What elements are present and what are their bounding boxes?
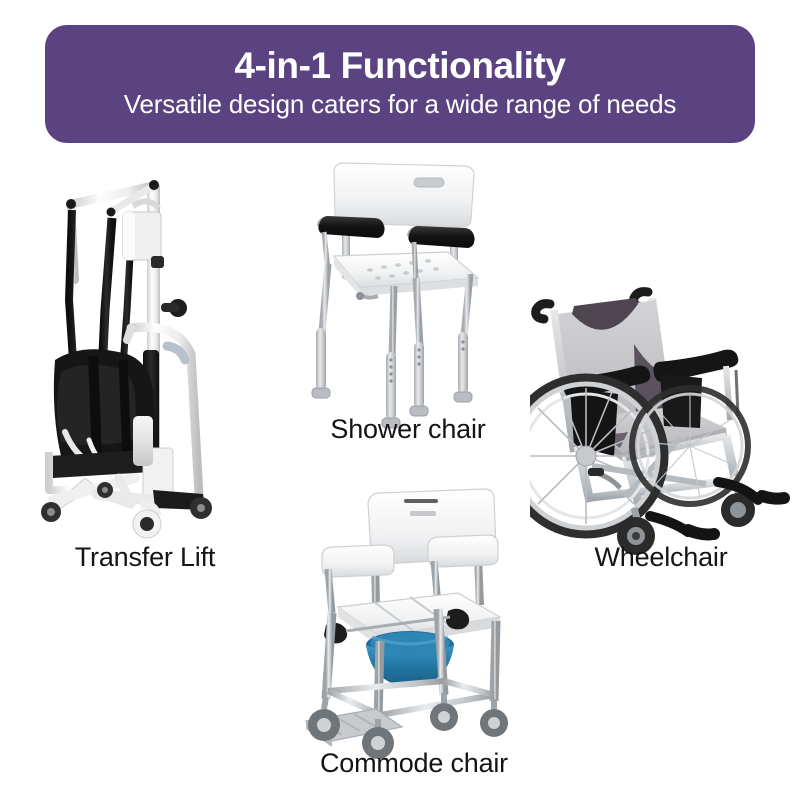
page-title: 4-in-1 Functionality <box>234 47 565 86</box>
wheelchair-illustration <box>530 270 792 570</box>
product-image-transfer-lift <box>35 160 255 560</box>
product-label-shower-chair: Shower chair <box>288 414 528 445</box>
product-label-wheelchair: Wheelchair <box>530 542 792 573</box>
commode-chair-illustration <box>298 485 530 785</box>
product-label-commode-chair: Commode chair <box>268 748 560 779</box>
shower-chair-illustration <box>298 160 518 450</box>
page-subtitle: Versatile design caters for a wide range… <box>124 91 676 118</box>
product-image-shower-chair <box>298 160 518 450</box>
transfer-lift-illustration <box>35 160 255 560</box>
product-label-transfer-lift: Transfer Lift <box>35 542 255 573</box>
infographic-canvas: 4-in-1 Functionality Versatile design ca… <box>0 0 800 800</box>
product-image-wheelchair <box>530 270 792 570</box>
product-image-commode-chair <box>298 485 530 785</box>
header-banner: 4-in-1 Functionality Versatile design ca… <box>45 25 755 143</box>
